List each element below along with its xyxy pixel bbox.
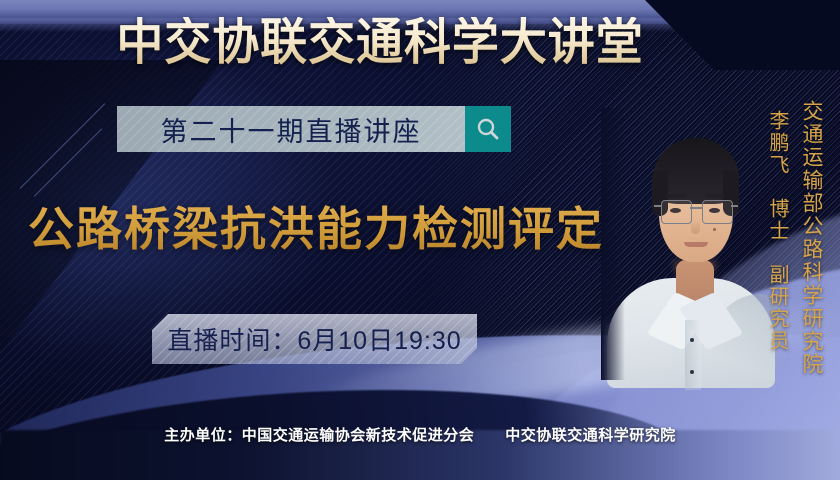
subtitle-plate: 第二十一期直播讲座 xyxy=(117,106,465,152)
page-title: 中交协联交通科学大讲堂 xyxy=(23,17,737,67)
subtitle-banner: 第二十一期直播讲座 xyxy=(117,106,511,152)
glasses-lens-left xyxy=(661,200,692,224)
speaker-shirt-button xyxy=(690,338,694,342)
speaker-name-title: 李鹏飞 博士 副研究员 xyxy=(763,110,792,352)
promotional-poster: 中交协联交通科学大讲堂 第二十一期直播讲座 公路桥梁抗洪能力检测评定 直播时间：… xyxy=(0,0,840,480)
speaker-mole xyxy=(713,228,716,231)
search-button[interactable] xyxy=(465,106,511,152)
speaker-organization: 交通运输部公路科学研究院 xyxy=(796,100,826,376)
search-icon xyxy=(475,116,501,142)
speaker-edge-fade xyxy=(601,108,625,380)
glasses-temple-right xyxy=(731,205,738,207)
speaker-shirt-button xyxy=(690,370,694,374)
glasses-lens-right xyxy=(702,200,733,224)
speaker-shirt-placket xyxy=(685,320,701,390)
broadcast-time-label: 直播时间：6月10日19:30 xyxy=(167,321,461,357)
speaker-nose xyxy=(691,220,700,234)
speaker-portrait xyxy=(615,108,765,380)
glasses-bridge xyxy=(690,207,702,209)
organizer-footer: 主办单位：中国交通运输协会新技术促进分会 中交协联交通科学研究院 xyxy=(0,424,840,445)
subtitle-label: 第二十一期直播讲座 xyxy=(161,110,422,149)
speaker-mouth xyxy=(684,242,708,247)
glasses-temple-left xyxy=(654,205,661,207)
broadcast-time-badge: 直播时间：6月10日19:30 xyxy=(152,314,477,364)
lecture-headline: 公路桥梁抗洪能力检测评定 xyxy=(28,203,604,256)
